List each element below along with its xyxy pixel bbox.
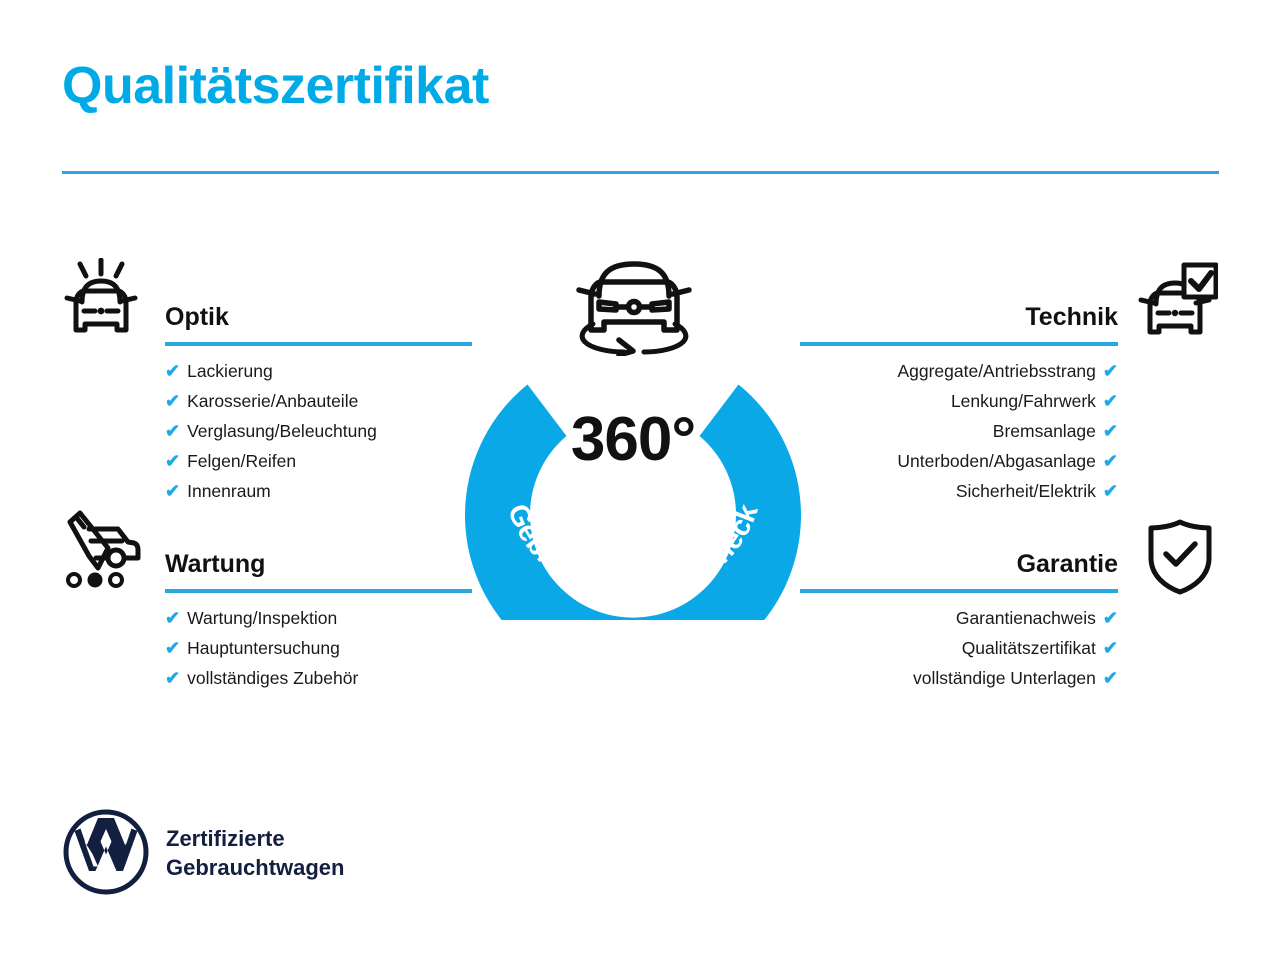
list-item: vollständige Unterlagen✔ <box>800 663 1118 693</box>
check-icon: ✔ <box>165 386 180 416</box>
list-item: Aggregate/Antriebsstrang✔ <box>800 356 1118 386</box>
list-item: Bremsanlage✔ <box>800 416 1118 446</box>
list-item-label: vollständige Unterlagen <box>913 663 1096 693</box>
section-optik-list: ✔Lackierung ✔Karosserie/Anbauteile ✔Verg… <box>165 356 472 506</box>
list-item: Lenkung/Fahrwerk✔ <box>800 386 1118 416</box>
list-item-label: Lenkung/Fahrwerk <box>951 386 1096 416</box>
list-item: ✔Karosserie/Anbauteile <box>165 386 472 416</box>
section-garantie: Garantie Garantienachweis✔ Qualitätszert… <box>800 547 1118 693</box>
section-technik-header: Technik <box>800 300 1118 346</box>
footer-wordmark-line1: Zertifizierte <box>166 824 344 853</box>
list-item-label: Felgen/Reifen <box>187 446 296 476</box>
check-icon: ✔ <box>165 446 180 476</box>
page-title: Qualitätszertifikat <box>62 58 489 115</box>
list-item-label: Lackierung <box>187 356 273 386</box>
check-icon: ✔ <box>165 476 180 506</box>
list-item: ✔Innenraum <box>165 476 472 506</box>
list-item: ✔Hauptuntersuchung <box>165 633 472 663</box>
section-optik: Optik ✔Lackierung ✔Karosserie/Anbauteile… <box>165 300 472 506</box>
list-item: Qualitätszertifikat✔ <box>800 633 1118 663</box>
section-technik-title: Technik <box>800 300 1118 334</box>
list-item-label: vollständiges Zubehör <box>187 663 358 693</box>
section-garantie-header: Garantie <box>800 547 1118 593</box>
section-optik-header: Optik <box>165 300 472 346</box>
list-item-label: Sicherheit/Elektrik <box>956 476 1096 506</box>
section-garantie-list: Garantienachweis✔ Qualitätszertifikat✔ v… <box>800 603 1118 693</box>
section-wartung-list: ✔Wartung/Inspektion ✔Hauptuntersuchung ✔… <box>165 603 472 693</box>
check-icon: ✔ <box>165 416 180 446</box>
list-item: Garantienachweis✔ <box>800 603 1118 633</box>
list-item-label: Garantienachweis <box>956 603 1096 633</box>
list-item-label: Hauptuntersuchung <box>187 633 340 663</box>
footer-wordmark-line2: Gebrauchtwagen <box>166 853 344 882</box>
check-icon: ✔ <box>165 663 180 693</box>
section-optik-divider <box>165 342 472 346</box>
volkswagen-logo <box>62 808 150 901</box>
check-icon: ✔ <box>1103 633 1118 663</box>
badge-360-gebrauchtwagen-check: Gebrauchtwagen-Check 360° <box>448 250 818 620</box>
list-item: ✔Felgen/Reifen <box>165 446 472 476</box>
list-item-label: Qualitätszertifikat <box>962 633 1096 663</box>
check-icon: ✔ <box>1103 476 1118 506</box>
list-item: ✔vollständiges Zubehör <box>165 663 472 693</box>
shiny-car-front-icon <box>58 258 144 349</box>
section-garantie-divider <box>800 589 1118 593</box>
list-item-label: Unterboden/Abgasanlage <box>897 446 1096 476</box>
list-item: Sicherheit/Elektrik✔ <box>800 476 1118 506</box>
check-icon: ✔ <box>165 356 180 386</box>
section-technik-divider <box>800 342 1118 346</box>
check-icon: ✔ <box>165 633 180 663</box>
footer-wordmark: Zertifizierte Gebrauchtwagen <box>166 824 344 882</box>
section-garantie-title: Garantie <box>800 547 1118 581</box>
list-item-label: Wartung/Inspektion <box>187 603 337 633</box>
section-wartung-title: Wartung <box>165 547 472 581</box>
list-item-label: Verglasung/Beleuchtung <box>187 416 377 446</box>
list-item-label: Innenraum <box>187 476 271 506</box>
car-checkbox-icon <box>1136 262 1218 349</box>
list-item: ✔Wartung/Inspektion <box>165 603 472 633</box>
shield-check-icon <box>1144 518 1216 601</box>
check-icon: ✔ <box>1103 603 1118 633</box>
check-icon: ✔ <box>1103 446 1118 476</box>
car-front-rotate-icon <box>561 252 707 361</box>
section-technik-list: Aggregate/Antriebsstrang✔ Lenkung/Fahrwe… <box>800 356 1118 506</box>
section-wartung: Wartung ✔Wartung/Inspektion ✔Hauptunters… <box>165 547 472 693</box>
section-wartung-divider <box>165 589 472 593</box>
section-optik-title: Optik <box>165 300 472 334</box>
list-item-label: Aggregate/Antriebsstrang <box>897 356 1095 386</box>
check-icon: ✔ <box>1103 356 1118 386</box>
check-icon: ✔ <box>1103 663 1118 693</box>
pencil-car-service-icon <box>58 508 144 599</box>
list-item: ✔Verglasung/Beleuchtung <box>165 416 472 446</box>
check-icon: ✔ <box>165 603 180 633</box>
section-technik: Technik Aggregate/Antriebsstrang✔ Lenkun… <box>800 300 1118 506</box>
badge-center-value: 360° <box>448 405 818 475</box>
list-item: Unterboden/Abgasanlage✔ <box>800 446 1118 476</box>
check-icon: ✔ <box>1103 416 1118 446</box>
section-wartung-header: Wartung <box>165 547 472 593</box>
list-item: ✔Lackierung <box>165 356 472 386</box>
header-divider <box>62 171 1219 174</box>
list-item-label: Karosserie/Anbauteile <box>187 386 358 416</box>
check-icon: ✔ <box>1103 386 1118 416</box>
list-item-label: Bremsanlage <box>993 416 1096 446</box>
